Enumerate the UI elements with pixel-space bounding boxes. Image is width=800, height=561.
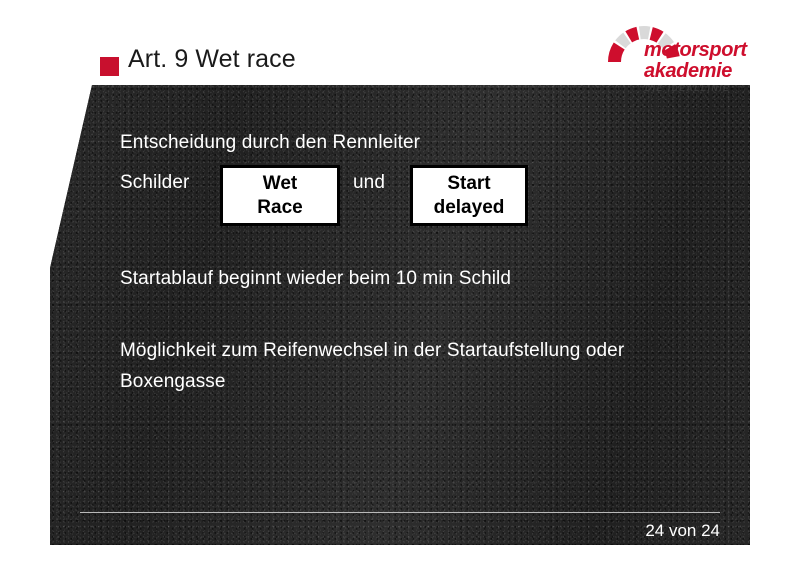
page-title: Art. 9 Wet race: [128, 45, 296, 74]
motorsport-akademie-logo: motorsport akademie DIE IDEALLINIE: [608, 18, 754, 90]
footer-page-number: 24 von 24: [0, 521, 720, 541]
footer-divider: [80, 512, 720, 513]
logo-line-akademie: akademie: [644, 61, 756, 81]
logo-tagline: DIE IDEALLINIE: [645, 83, 756, 93]
logo-line-motorsport: motorsport: [644, 40, 756, 60]
logo-wordmark: motorsport akademie DIE IDEALLINIE: [644, 40, 756, 93]
title-bullet-square-icon: [100, 57, 119, 76]
slide: Art. 9 Wet race motorsport akademie DIE …: [0, 0, 800, 561]
